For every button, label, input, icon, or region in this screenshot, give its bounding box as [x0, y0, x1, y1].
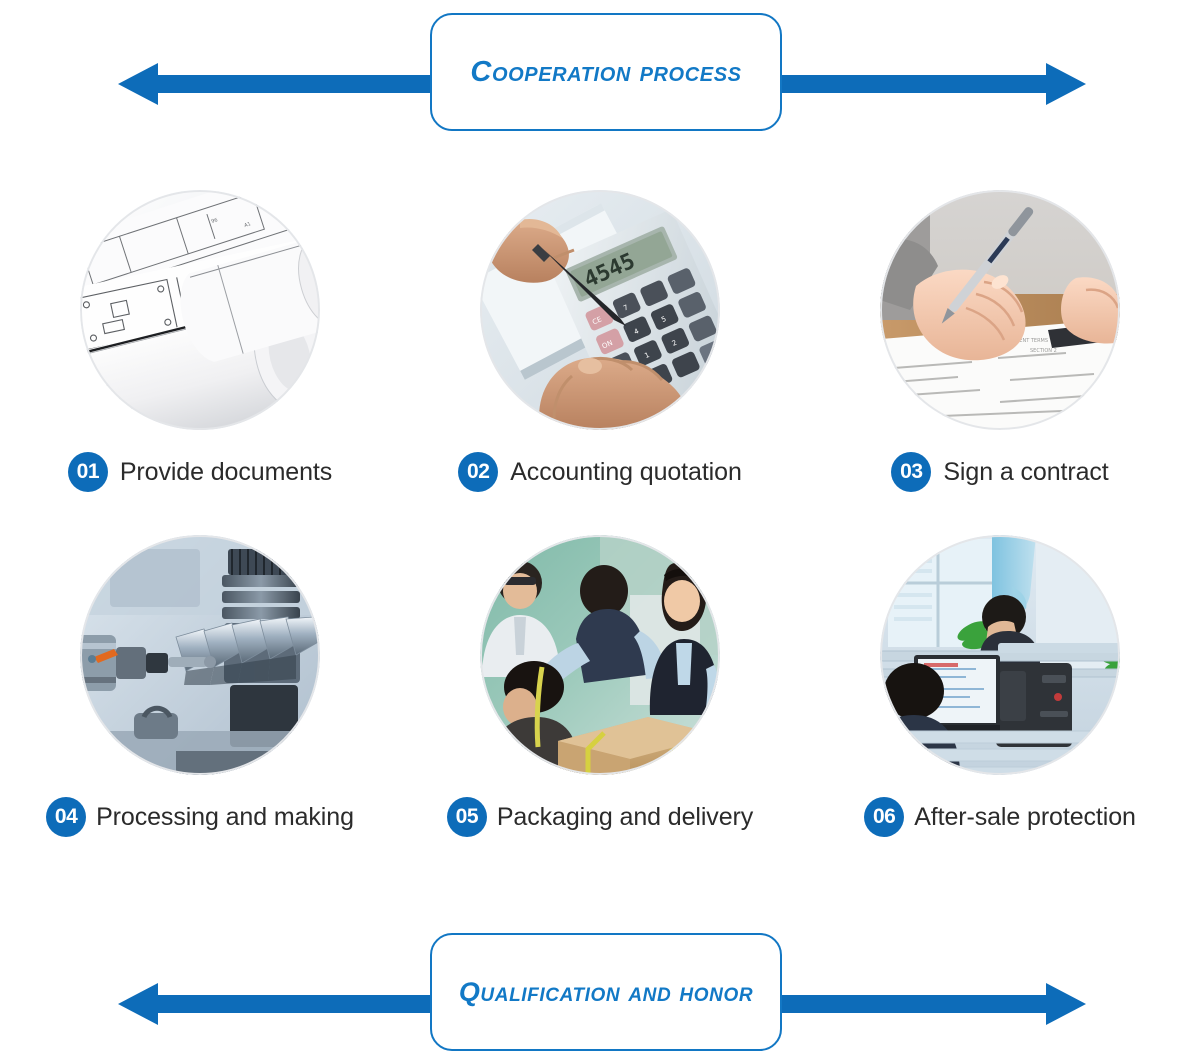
- step-caption-06: 06 After-sale protection: [800, 797, 1200, 837]
- office-support-photo: [880, 535, 1120, 775]
- step-item-04[interactable]: 04 Processing and making: [0, 535, 400, 880]
- step-thumbnail-05[interactable]: [480, 535, 720, 775]
- svg-text:SECTION 2: SECTION 2: [1030, 348, 1057, 354]
- step-number-badge-01: 01: [68, 452, 108, 492]
- step-item-01[interactable]: 96A1: [0, 190, 400, 535]
- qualification-honor-title: Qualification and honor: [459, 977, 753, 1008]
- step-label-01: Provide documents: [120, 458, 332, 487]
- step-number-badge-04: 04: [46, 797, 86, 837]
- rolled-blueprints-photo: 96A1: [80, 190, 320, 430]
- step-label-02: Accounting quotation: [510, 458, 742, 487]
- packaging-workers-photo: [480, 535, 720, 775]
- step-thumbnail-04[interactable]: [80, 535, 320, 775]
- step-caption-05: 05 Packaging and delivery: [400, 797, 800, 837]
- cooperation-steps: 96A1: [0, 190, 1200, 880]
- step-thumbnail-02[interactable]: 4545: [480, 190, 720, 430]
- step-thumbnail-01[interactable]: 96A1: [80, 190, 320, 430]
- qualification-honor-banner-box: Qualification and honor: [430, 933, 782, 1051]
- step-number-badge-05: 05: [447, 797, 487, 837]
- steps-row-2: 04 Processing and making: [0, 535, 1200, 880]
- step-label-06: After-sale protection: [914, 803, 1136, 832]
- step-label-05: Packaging and delivery: [497, 803, 753, 832]
- step-item-06[interactable]: 06 After-sale protection: [800, 535, 1200, 880]
- step-caption-01: 01 Provide documents: [0, 452, 400, 492]
- step-number-badge-06: 06: [864, 797, 904, 837]
- step-label-04: Processing and making: [96, 803, 354, 832]
- cooperation-process-banner-box: Cooperation process: [430, 13, 782, 131]
- step-item-02[interactable]: 4545: [400, 190, 800, 535]
- step-number-badge-02: 02: [458, 452, 498, 492]
- step-item-03[interactable]: AGREEMENT TERMS SECTION 2: [800, 190, 1200, 535]
- step-caption-03: 03 Sign a contract: [800, 452, 1200, 492]
- steps-row-1: 96A1: [0, 190, 1200, 535]
- step-item-05[interactable]: 05 Packaging and delivery: [400, 535, 800, 880]
- cnc-machining-photo: [80, 535, 320, 775]
- step-thumbnail-06[interactable]: [880, 535, 1120, 775]
- step-caption-02: 02 Accounting quotation: [400, 452, 800, 492]
- step-caption-04: 04 Processing and making: [0, 797, 400, 837]
- cooperation-process-title: Cooperation process: [470, 56, 741, 89]
- qualification-honor-banner: Qualification and honor: [0, 929, 1200, 1059]
- step-label-03: Sign a contract: [943, 458, 1108, 487]
- cooperation-process-banner: Cooperation process: [0, 9, 1200, 139]
- step-thumbnail-03[interactable]: AGREEMENT TERMS SECTION 2: [880, 190, 1120, 430]
- signing-contract-photo: AGREEMENT TERMS SECTION 2: [880, 190, 1120, 430]
- step-number-badge-03: 03: [891, 452, 931, 492]
- calculator-hands-photo: 4545: [480, 190, 720, 430]
